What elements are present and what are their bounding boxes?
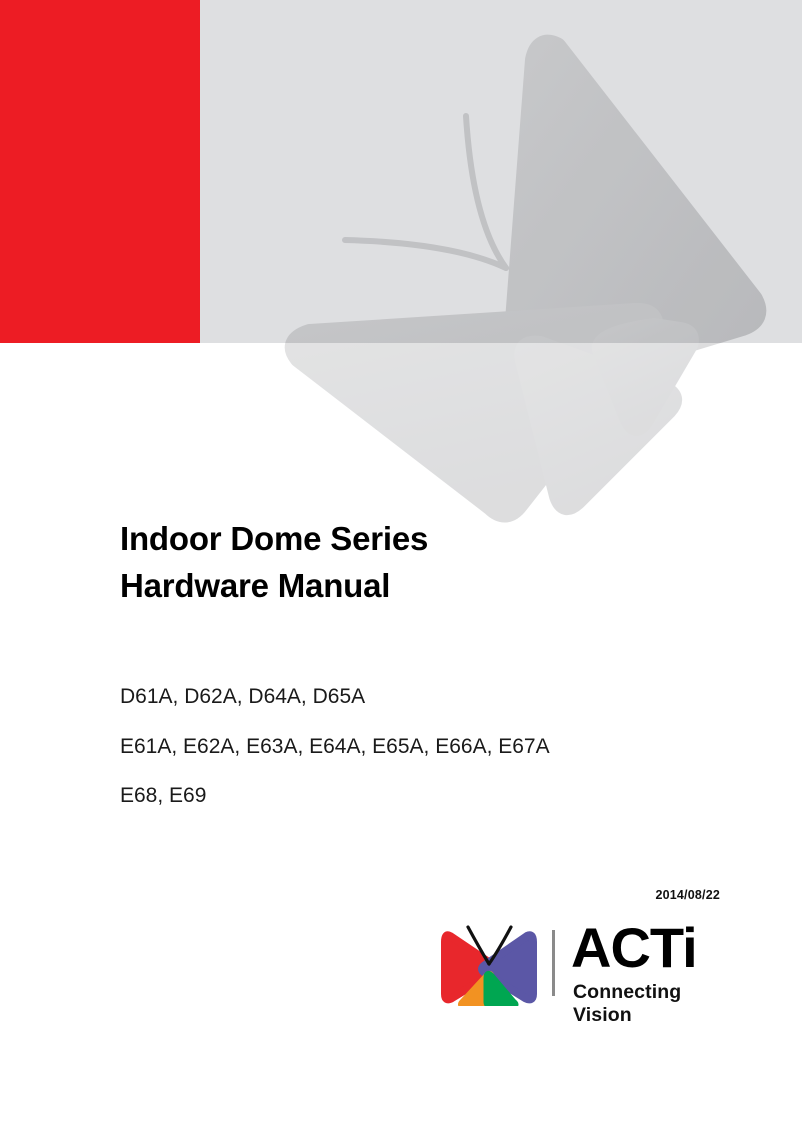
document-date: 2014/08/22 [655,888,720,902]
model-line-e-series-b: E68, E69 [120,771,760,821]
acti-logo: ACTi Connecting Vision [441,924,731,1018]
document-title: Indoor Dome Series Hardware Manual [120,516,740,610]
acti-butterfly-logo-icon [441,924,537,1006]
header-banner [0,0,802,343]
model-list: D61A, D62A, D64A, D65A E61A, E62A, E63A,… [120,672,760,821]
logo-divider [552,930,555,996]
title-line-1: Indoor Dome Series [120,516,740,563]
acti-tagline: Connecting Vision [573,981,731,1027]
model-line-e-series-a: E61A, E62A, E63A, E64A, E65A, E66A, E67A [120,722,760,772]
acti-wordmark: ACTi [571,920,697,976]
title-line-2: Hardware Manual [120,563,740,610]
model-line-d-series: D61A, D62A, D64A, D65A [120,672,760,722]
header-red-bar [0,0,200,343]
